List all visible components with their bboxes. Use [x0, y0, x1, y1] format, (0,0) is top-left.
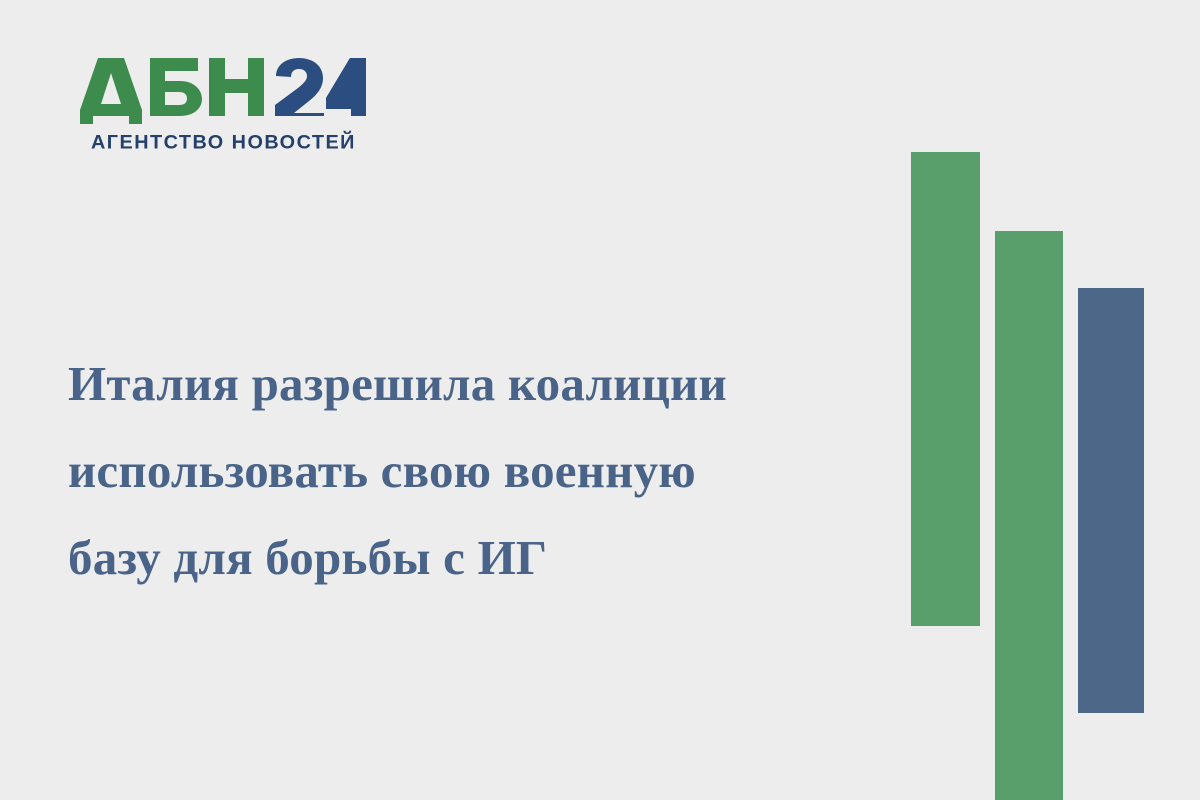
headline-line-1: Италия разрешила коалиции — [68, 340, 868, 427]
logo-digit-four-icon — [326, 58, 366, 116]
headline-line-3: базу для борьбы с ИГ — [68, 514, 868, 601]
logo-letter-de-icon — [80, 58, 142, 124]
logo-wordmark-icon — [80, 58, 366, 124]
headline-line-2: использовать свою военную — [68, 427, 868, 514]
decorative-bar-green-medium — [995, 231, 1063, 800]
logo-tagline: АГЕНТСТВО НОВОСТЕЙ — [80, 130, 366, 154]
brand-logo: АГЕНТСТВО НОВОСТЕЙ — [80, 58, 380, 154]
logo-tagline-text: АГЕНТСТВО НОВОСТЕЙ — [91, 130, 356, 153]
decorative-bar-green-tall — [911, 152, 980, 626]
news-card: АГЕНТСТВО НОВОСТЕЙ Италия разрешила коал… — [0, 0, 1200, 800]
logo-digit-two-icon — [275, 58, 324, 116]
decorative-bar-blue-short — [1078, 288, 1144, 713]
headline: Италия разрешила коалиции использовать с… — [68, 340, 868, 601]
logo-letter-en-icon — [209, 58, 264, 116]
logo-letter-be-icon — [150, 58, 202, 116]
